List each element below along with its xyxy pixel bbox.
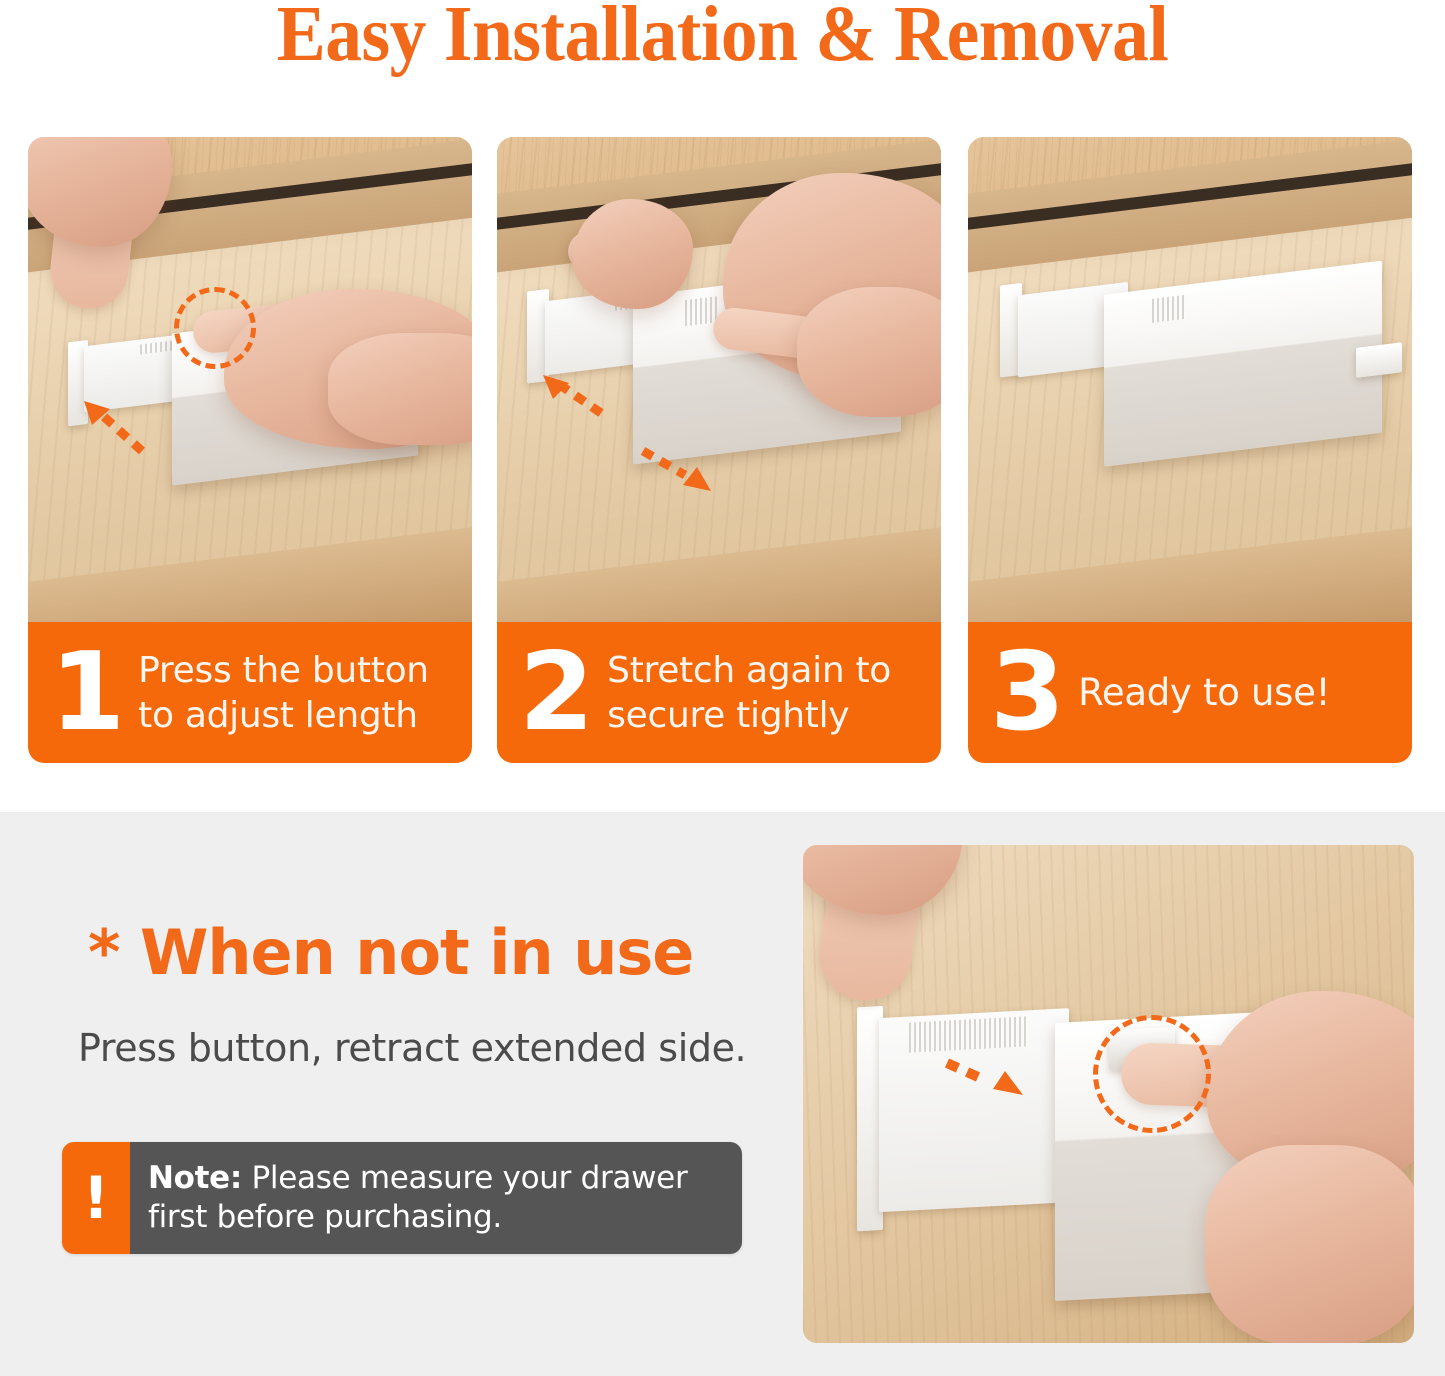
left-hand bbox=[573, 199, 693, 309]
when-not-in-use-heading: * When not in use bbox=[88, 918, 693, 988]
step-1-text: Press the button to adjust length bbox=[138, 648, 429, 738]
divider-end-cap-right bbox=[1356, 342, 1402, 378]
step-1-caption: 1 Press the button to adjust length bbox=[28, 622, 472, 763]
step-2-line-1: Stretch again to bbox=[607, 648, 891, 693]
step-1-photo bbox=[28, 137, 472, 622]
step-2-number: 2 bbox=[519, 643, 591, 743]
note-text: Note: Please measure your drawer first b… bbox=[148, 1159, 728, 1237]
drawer-divider bbox=[1000, 232, 1400, 511]
step-3-caption: 3 Ready to use! bbox=[968, 622, 1412, 763]
step-2-line-2: secure tightly bbox=[607, 693, 891, 738]
divider-ridges bbox=[909, 1016, 1029, 1052]
note-body: Note: Please measure your drawer first b… bbox=[130, 1142, 742, 1254]
step-3-number: 3 bbox=[990, 643, 1062, 743]
retract-photo bbox=[803, 845, 1414, 1343]
step-1-number: 1 bbox=[50, 643, 122, 743]
note-label: Note: bbox=[148, 1160, 242, 1196]
step-1-line-2: to adjust length bbox=[138, 693, 429, 738]
installation-steps: 1 Press the button to adjust length bbox=[0, 137, 1445, 763]
divider-main-body bbox=[1104, 261, 1382, 467]
dashed-circle-on-button-icon bbox=[1093, 1015, 1211, 1133]
dashed-arrow-left-icon bbox=[539, 373, 609, 419]
dashed-arrow-down-right-icon bbox=[639, 445, 719, 495]
note-box: ! Note: Please measure your drawer first… bbox=[62, 1142, 742, 1254]
step-2-text: Stretch again to secure tightly bbox=[607, 648, 891, 738]
dashed-circle-on-button-icon bbox=[174, 287, 256, 369]
right-hand-fist bbox=[1205, 1145, 1414, 1343]
divider-lock-ridges bbox=[685, 296, 717, 326]
right-hand-knuckles bbox=[328, 333, 472, 445]
divider-lock-ridges bbox=[1152, 295, 1186, 323]
exclamation-icon: ! bbox=[62, 1142, 130, 1254]
step-card-2: 2 Stretch again to secure tightly bbox=[497, 137, 941, 763]
step-card-1: 1 Press the button to adjust length bbox=[28, 137, 472, 763]
step-card-3: 3 Ready to use! bbox=[968, 137, 1412, 763]
step-2-caption: 2 Stretch again to secure tightly bbox=[497, 622, 941, 763]
product-infographic: Easy Installation & Removal bbox=[0, 0, 1445, 1376]
step-2-photo bbox=[497, 137, 941, 622]
when-not-in-use-subtitle: Press button, retract extended side. bbox=[78, 1024, 746, 1072]
when-not-in-use-section: * When not in use Press button, retract … bbox=[0, 812, 1445, 1376]
dashed-arrow-left-icon bbox=[80, 399, 150, 459]
dashed-arrow-right-icon bbox=[943, 1055, 1031, 1101]
step-3-text: Ready to use! bbox=[1078, 670, 1330, 715]
step-3-photo bbox=[968, 137, 1412, 622]
step-3-line-1: Ready to use! bbox=[1078, 670, 1330, 715]
right-hand-knuckles bbox=[797, 287, 941, 417]
step-1-line-1: Press the button bbox=[138, 648, 429, 693]
page-title: Easy Installation & Removal bbox=[51, 0, 1395, 78]
